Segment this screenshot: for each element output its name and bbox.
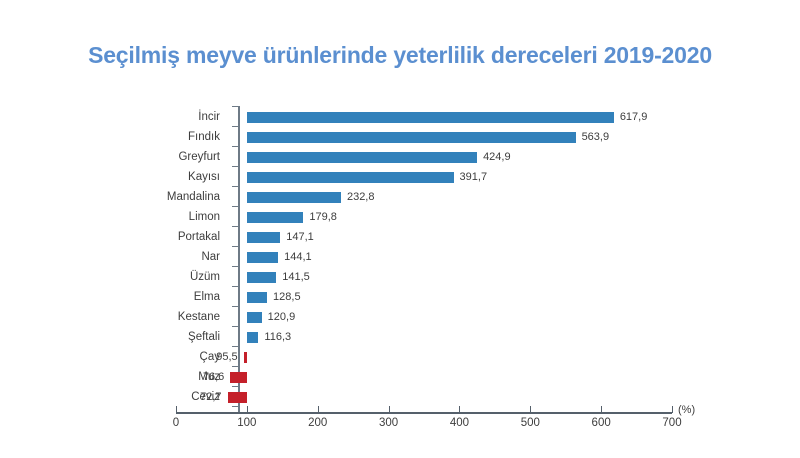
category-label-13: Muz <box>40 371 220 383</box>
x-tick-label-700: 700 <box>652 417 692 429</box>
bar-value-label-4: 232,8 <box>347 191 375 203</box>
x-tick-label-500: 500 <box>510 417 550 429</box>
bar-value-label-5: 179,8 <box>309 211 337 223</box>
bar-row: Greyfurt424,9 <box>0 148 800 168</box>
x-tick-700 <box>672 406 673 413</box>
bar-row: Portakal147,1 <box>0 228 800 248</box>
x-tick-label-0: 0 <box>156 417 196 429</box>
y-tick-3 <box>232 166 238 167</box>
x-tick-0 <box>176 406 177 413</box>
bar-row: İncir617,9 <box>0 108 800 128</box>
y-tick-6 <box>232 226 238 227</box>
bar-4[interactable] <box>247 192 341 203</box>
bar-row: Fındık563,9 <box>0 128 800 148</box>
bar-7[interactable] <box>247 252 278 263</box>
bar-row: Kestane120,9 <box>0 308 800 328</box>
bar-11[interactable] <box>247 332 259 343</box>
category-label-0: İncir <box>40 111 220 123</box>
bar-6[interactable] <box>247 232 280 243</box>
y-tick-13 <box>232 366 238 367</box>
x-tick-label-600: 600 <box>581 417 621 429</box>
bar-row: Mandalina232,8 <box>0 188 800 208</box>
bar-13[interactable] <box>230 372 247 383</box>
bar-9[interactable] <box>247 292 267 303</box>
bar-value-label-3: 391,7 <box>460 171 488 183</box>
y-tick-7 <box>232 246 238 247</box>
y-tick-2 <box>232 146 238 147</box>
x-tick-label-400: 400 <box>439 417 479 429</box>
category-label-10: Kestane <box>40 311 220 323</box>
bar-2[interactable] <box>247 152 477 163</box>
category-label-6: Portakal <box>40 231 220 243</box>
bar-3[interactable] <box>247 172 454 183</box>
x-tick-500 <box>530 406 531 413</box>
bar-8[interactable] <box>247 272 276 283</box>
y-tick-end <box>232 406 238 407</box>
x-tick-label-300: 300 <box>369 417 409 429</box>
y-tick-10 <box>232 306 238 307</box>
bar-row: Elma128,5 <box>0 288 800 308</box>
bar-value-label-11: 116,3 <box>264 331 291 343</box>
bar-5[interactable] <box>247 212 304 223</box>
y-tick-8 <box>232 266 238 267</box>
bar-row: Kayısı391,7 <box>0 168 800 188</box>
bar-value-label-14: 72,7 <box>200 391 221 403</box>
y-tick-4 <box>232 186 238 187</box>
bar-value-label-2: 424,9 <box>483 151 511 163</box>
y-tick-0 <box>232 106 238 107</box>
category-label-7: Nar <box>40 251 220 263</box>
bar-14[interactable] <box>228 392 247 403</box>
bar-value-label-8: 141,5 <box>282 271 310 283</box>
bar-row: Çay95,5 <box>0 348 800 368</box>
x-tick-600 <box>601 406 602 413</box>
category-label-4: Mandalina <box>40 191 220 203</box>
bar-12[interactable] <box>244 352 247 363</box>
x-tick-label-100: 100 <box>227 417 267 429</box>
bar-row: Nar144,1 <box>0 248 800 268</box>
x-tick-label-200: 200 <box>298 417 338 429</box>
x-axis-line <box>176 412 672 414</box>
bar-value-label-13: 76,6 <box>203 371 224 383</box>
y-tick-5 <box>232 206 238 207</box>
bar-value-label-6: 147,1 <box>286 231 314 243</box>
x-tick-200 <box>318 406 319 413</box>
y-tick-9 <box>232 286 238 287</box>
y-tick-1 <box>232 126 238 127</box>
bar-value-label-9: 128,5 <box>273 291 301 303</box>
bar-value-label-12: 95,5 <box>216 351 237 363</box>
bar-value-label-10: 120,9 <box>268 311 296 323</box>
bar-10[interactable] <box>247 312 262 323</box>
bar-row: Muz76,6 <box>0 368 800 388</box>
bar-value-label-0: 617,9 <box>620 111 648 123</box>
category-label-14: Ceviz <box>40 391 220 403</box>
category-label-11: Şeftali <box>40 331 220 343</box>
x-axis-unit-label: (%) <box>678 404 695 416</box>
category-label-2: Greyfurt <box>40 151 220 163</box>
bar-0[interactable] <box>247 112 614 123</box>
y-tick-12 <box>232 346 238 347</box>
category-label-8: Üzüm <box>40 271 220 283</box>
x-tick-300 <box>389 406 390 413</box>
category-label-9: Elma <box>40 291 220 303</box>
category-label-3: Kayısı <box>40 171 220 183</box>
bar-value-label-7: 144,1 <box>284 251 312 263</box>
category-label-5: Limon <box>40 211 220 223</box>
bar-1[interactable] <box>247 132 576 143</box>
category-label-1: Fındık <box>40 131 220 143</box>
plot-area: İncir617,9Fındık563,9Greyfurt424,9Kayısı… <box>0 0 800 458</box>
y-tick-11 <box>232 326 238 327</box>
bar-row: Limon179,8 <box>0 208 800 228</box>
category-label-12: Çay <box>40 351 220 363</box>
bar-value-label-1: 563,9 <box>582 131 610 143</box>
bar-row: Şeftali116,3 <box>0 328 800 348</box>
x-tick-400 <box>459 406 460 413</box>
bar-row: Üzüm141,5 <box>0 268 800 288</box>
y-tick-14 <box>232 386 238 387</box>
x-tick-100 <box>247 406 248 413</box>
